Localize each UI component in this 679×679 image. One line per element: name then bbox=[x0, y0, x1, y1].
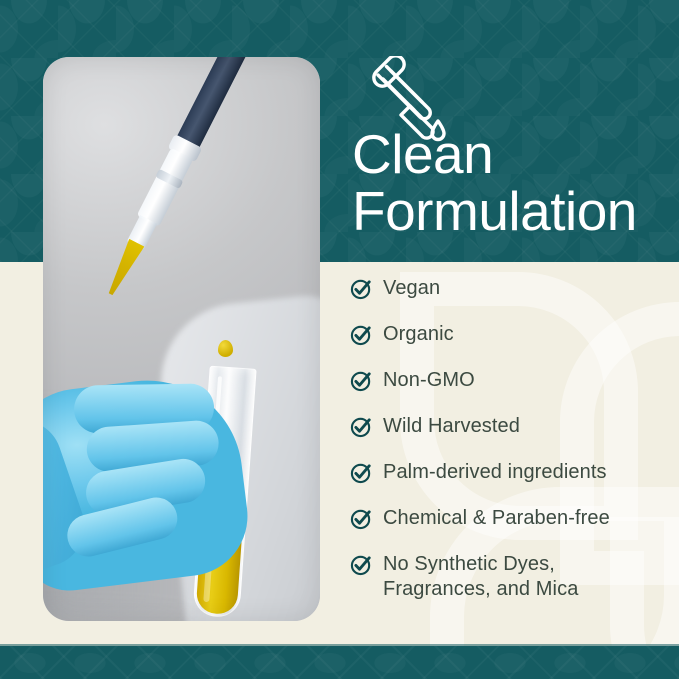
checklist-item-label: Non-GMO bbox=[383, 368, 475, 393]
check-circle-icon bbox=[350, 416, 372, 438]
page-title: Clean Formulation bbox=[352, 126, 676, 240]
bottom-teal-band bbox=[0, 646, 679, 679]
checklist-item-2: Non-GMO bbox=[350, 368, 675, 393]
page-title-line1: Clean bbox=[352, 126, 676, 183]
feature-checklist: Vegan Organic Non-GMO Wild Harvested bbox=[350, 276, 675, 602]
checklist-item-label: Organic bbox=[383, 322, 454, 347]
product-infographic-card: Clean Formulation Vegan Organic bbox=[0, 0, 679, 679]
checklist-item-label: Wild Harvested bbox=[383, 414, 520, 439]
check-circle-icon bbox=[350, 324, 372, 346]
checklist-item-3: Wild Harvested bbox=[350, 414, 675, 439]
checklist-item-1: Organic bbox=[350, 322, 675, 347]
checklist-item-label: Palm-derived ingredients bbox=[383, 460, 607, 485]
check-circle-icon bbox=[350, 462, 372, 484]
check-circle-icon bbox=[350, 508, 372, 530]
check-circle-icon bbox=[350, 554, 372, 576]
checklist-item-label: Vegan bbox=[383, 276, 440, 301]
checklist-item-label: No Synthetic Dyes, Fragrances, and Mica bbox=[383, 552, 578, 602]
checklist-item-0: Vegan bbox=[350, 276, 675, 301]
checklist-item-6: No Synthetic Dyes, Fragrances, and Mica bbox=[350, 552, 675, 602]
page-title-line2: Formulation bbox=[352, 183, 676, 240]
checklist-item-label: Chemical & Paraben-free bbox=[383, 506, 610, 531]
checklist-item-5: Chemical & Paraben-free bbox=[350, 506, 675, 531]
checklist-item-4: Palm-derived ingredients bbox=[350, 460, 675, 485]
pipette-dispensing-oil-into-test-tube-photo bbox=[43, 57, 320, 621]
check-circle-icon bbox=[350, 278, 372, 300]
oil-drop bbox=[218, 340, 233, 357]
check-circle-icon bbox=[350, 370, 372, 392]
